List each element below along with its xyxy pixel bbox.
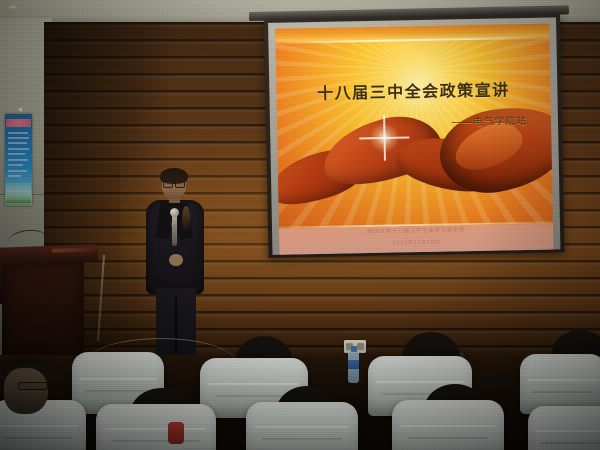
seat-back bbox=[246, 402, 358, 450]
slide-subtitle: ——电气学院站 bbox=[451, 112, 527, 128]
seat-cover-fold bbox=[106, 428, 207, 430]
seat-cover-fold bbox=[535, 430, 600, 432]
ceiling-light-icon bbox=[8, 4, 18, 10]
seat-cover-fold bbox=[376, 381, 463, 383]
slide-footer-date: 2013年12月16日 bbox=[279, 236, 553, 248]
screen-surface: 十八届三中全会政策宣讲 ——电气学院站 郑州大学十八届三中全会学习宣讲团 201… bbox=[268, 17, 560, 254]
poster-text-line bbox=[8, 175, 21, 177]
slide-footer-area: 郑州大学十八届三中全会学习宣讲团 2013年12月16日 bbox=[279, 223, 553, 254]
seat-cover-fold bbox=[79, 378, 156, 380]
poster-text-line bbox=[8, 153, 25, 155]
glasses-icon bbox=[18, 382, 48, 390]
poster-text-line bbox=[8, 137, 29, 139]
seat-cover-fold bbox=[532, 391, 594, 393]
seat-cover-fold bbox=[113, 440, 199, 442]
lecture-hall-photo: 十八届三中全会政策宣讲 ——电气学院站 郑州大学十八届三中全会学习宣讲团 201… bbox=[0, 0, 600, 450]
seat-cover-fold bbox=[540, 442, 600, 444]
poster-text-line bbox=[8, 170, 27, 172]
seat-cover-fold bbox=[255, 426, 349, 428]
seat-back bbox=[392, 400, 504, 450]
poster-pin bbox=[19, 108, 22, 111]
seat-back bbox=[528, 406, 600, 450]
blue-wall-poster bbox=[5, 114, 32, 206]
seat-cover-fold bbox=[0, 425, 78, 427]
presenter-hands bbox=[169, 254, 183, 266]
seat-cover-fold bbox=[209, 383, 300, 385]
microphone-icon bbox=[172, 212, 177, 246]
presenter-highlight bbox=[182, 206, 190, 232]
seat-back bbox=[96, 404, 216, 450]
seat-cover-fold bbox=[408, 437, 489, 439]
seat-cover-fold bbox=[527, 379, 599, 381]
poster-header-band bbox=[6, 119, 31, 127]
foreground-attendee-face bbox=[4, 368, 48, 414]
glasses-icon bbox=[163, 181, 185, 186]
poster-text-line bbox=[8, 148, 29, 150]
seat-cover-fold bbox=[262, 438, 343, 440]
slide-title: 十八届三中全会政策宣讲 bbox=[317, 76, 510, 104]
poster-text-line bbox=[8, 132, 28, 134]
microphone-head-icon bbox=[170, 208, 179, 217]
seat-cover-fold bbox=[85, 390, 151, 392]
audience bbox=[0, 330, 600, 450]
projection-screen: 十八届三中全会政策宣讲 ——电气学院站 郑州大学十八届三中全会学习宣讲团 201… bbox=[264, 14, 565, 258]
poster-text-line bbox=[8, 164, 23, 166]
poster-text-line bbox=[8, 142, 27, 144]
poster-image bbox=[6, 183, 31, 203]
seat-back bbox=[520, 354, 600, 414]
seat-cover-fold bbox=[3, 437, 72, 439]
presentation-slide: 十八届三中全会政策宣讲 ——电气学院站 bbox=[275, 24, 553, 229]
audience-red-garment bbox=[168, 422, 184, 444]
sparkle-icon bbox=[369, 122, 400, 153]
poster-text-line bbox=[8, 159, 28, 161]
seat-cover-fold bbox=[401, 425, 495, 427]
